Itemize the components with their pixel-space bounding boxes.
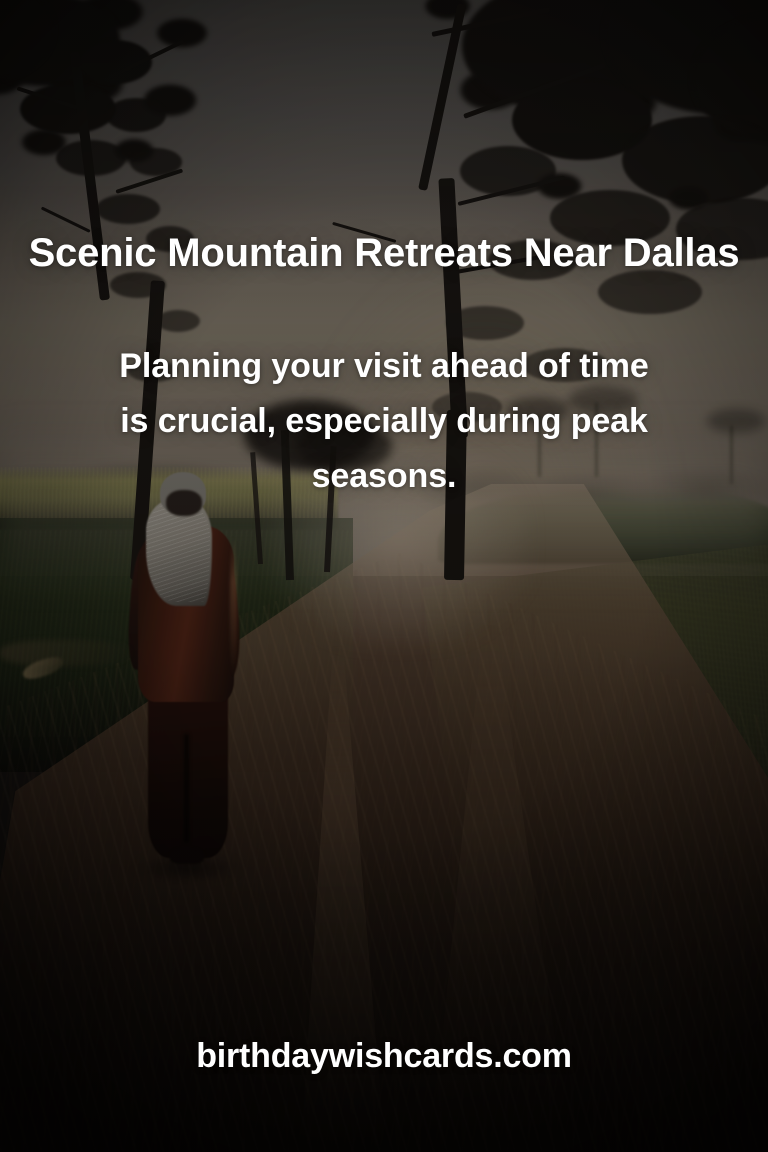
text-overlay: Scenic Mountain Retreats Near Dallas Pla… [0,0,768,1152]
site-watermark: birthdaywishcards.com [0,1037,768,1076]
subtitle-text: Planning your visit ahead of time is cru… [0,339,768,504]
pin-card: Scenic Mountain Retreats Near Dallas Pla… [0,0,768,1152]
page-title: Scenic Mountain Retreats Near Dallas [0,228,768,278]
